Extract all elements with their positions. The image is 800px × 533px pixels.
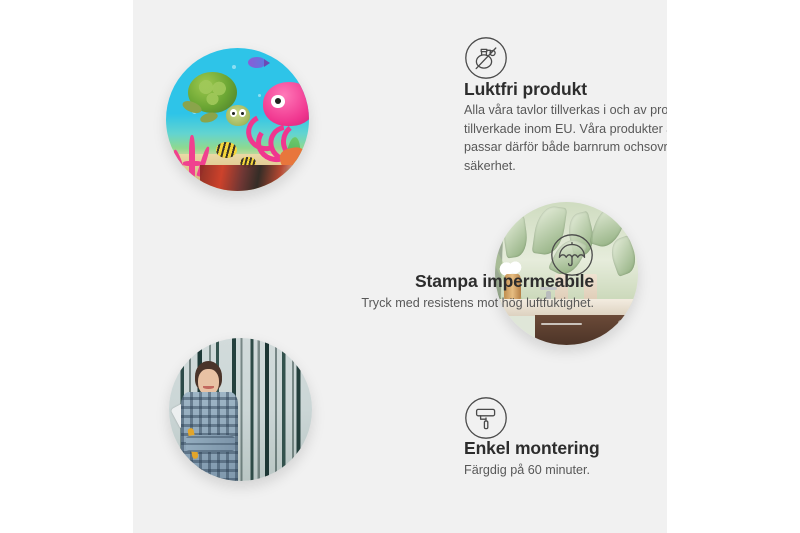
- woman-illustration: [178, 361, 258, 481]
- forest-scene-art: [169, 338, 312, 481]
- fish-illustration: [248, 57, 267, 68]
- turtle-eye: [230, 109, 237, 117]
- feature-body-luktfri-produkt: Alla våra tavlor tillverkas i och av pro…: [464, 101, 667, 175]
- feature-body-stampa-impermeabile: Tryck med resistens mot hög luftfuktighe…: [238, 294, 594, 313]
- paint-roller-icon: [464, 396, 508, 440]
- room-photo-strip: [200, 165, 300, 191]
- turtle-eye: [239, 109, 246, 117]
- octopus-illustration: [252, 82, 309, 151]
- octopus-head: [263, 82, 309, 126]
- leaf-motif: [501, 215, 529, 258]
- turtle-head: [226, 105, 250, 126]
- feature-title-enkel-montering: Enkel montering: [464, 438, 600, 459]
- bubble-icon: [232, 65, 236, 69]
- feature-image-woman-with-paint-roller-forest[interactable]: [169, 338, 312, 481]
- ocean-scene-art: [166, 48, 309, 191]
- feature-body-enkel-montering: Färgdig på 60 minuter.: [464, 461, 667, 480]
- feature-image-underwater-kids-mural[interactable]: [166, 48, 309, 191]
- turtle-flipper: [199, 111, 219, 125]
- feature-title-luktfri-produkt: Luktfri produkt: [464, 79, 587, 100]
- no-fragrance-icon: [464, 36, 508, 80]
- screenshot-root: Luktfri produkt Alla våra tavlor tillver…: [0, 0, 800, 533]
- feature-title-stampa-impermeabile: Stampa impermeabile: [298, 271, 594, 292]
- octopus-eye: [271, 95, 284, 108]
- woman-eyes: [205, 373, 209, 374]
- sea-turtle-illustration: [180, 72, 246, 129]
- feature-panel: Luktfri produkt Alla våra tavlor tillver…: [133, 0, 667, 533]
- woman-crossed-arms: [186, 435, 236, 452]
- wooden-vanity: [535, 315, 638, 345]
